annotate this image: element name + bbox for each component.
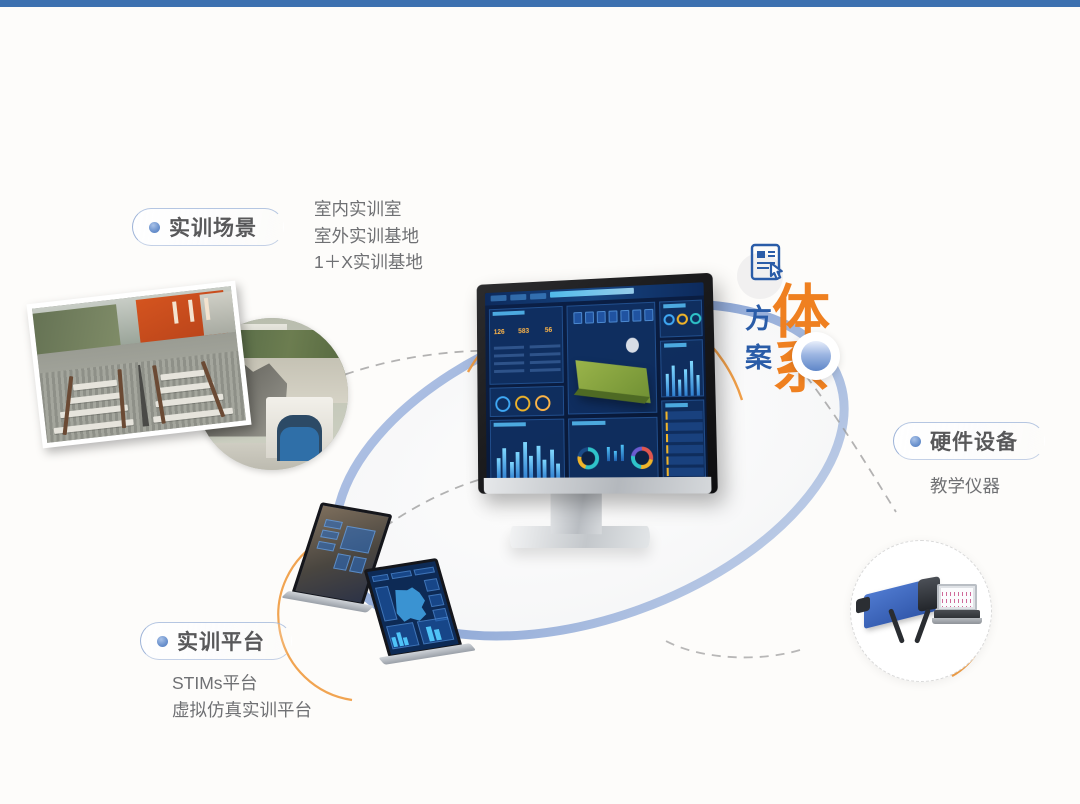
orbit-node-pin: [792, 332, 840, 380]
poster-canvas: 方案 体系 实训场景 室内实训室 室外实训基地 1＋X实训基地: [0, 0, 1080, 804]
hardware-media-circle: [850, 540, 992, 682]
bullet-dot-icon: [149, 222, 160, 233]
bullet-dot-icon: [157, 636, 168, 647]
sublist-platform: STIMs平台 虚拟仿真实训平台: [172, 670, 312, 723]
sublist-scene: 室内实训室 室外实训基地 1＋X实训基地: [314, 196, 423, 276]
label-text-hardware: 硬件设备: [930, 426, 1018, 456]
label-text-platform: 实训平台: [177, 626, 265, 656]
heading-prefix: 方案: [745, 297, 771, 375]
railway-track-photo: [26, 281, 251, 449]
label-pill-platform[interactable]: 实训平台: [140, 622, 292, 660]
sublist-hardware: 教学仪器: [930, 473, 1000, 500]
label-pill-scene[interactable]: 实训场景: [132, 208, 284, 246]
sublist-item: STIMs平台: [172, 670, 312, 697]
sublist-item: 室内实训室: [314, 196, 423, 223]
sublist-item: 1＋X实训基地: [314, 249, 423, 276]
label-text-scene: 实训场景: [169, 212, 257, 242]
bullet-dot-icon: [910, 436, 921, 447]
sublist-item: 教学仪器: [930, 473, 1000, 500]
label-pill-hardware[interactable]: 硬件设备: [893, 422, 1045, 460]
sublist-item: 虚拟仿真实训平台: [172, 697, 312, 724]
sublist-item: 室外实训基地: [314, 223, 423, 250]
laptop-waveform: [934, 584, 980, 626]
desktop-monitor-dashboard: 126 583 56: [472, 278, 714, 493]
